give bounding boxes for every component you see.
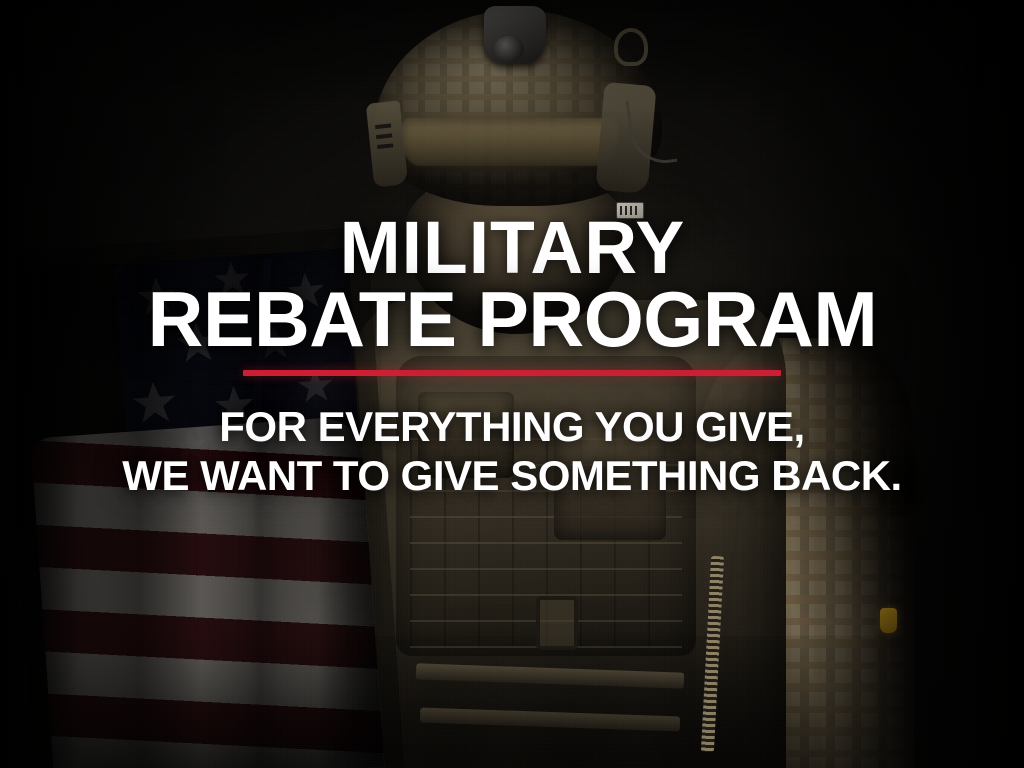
- headline-line-2: REBATE PROGRAM: [147, 283, 877, 356]
- page-subtitle: FOR EVERYTHING YOU GIVE, WE WANT TO GIVE…: [122, 402, 901, 500]
- subtitle-line-1: FOR EVERYTHING YOU GIVE,: [122, 402, 901, 451]
- military-rebate-banner: MILITARY REBATE PROGRAM FOR EVERYTHING Y…: [0, 0, 1024, 768]
- red-divider-rule: [243, 370, 781, 376]
- subtitle-line-2: WE WANT TO GIVE SOMETHING BACK.: [122, 451, 901, 500]
- headline-line-1: MILITARY: [147, 214, 877, 283]
- page-title: MILITARY REBATE PROGRAM: [147, 214, 877, 355]
- text-overlay: MILITARY REBATE PROGRAM FOR EVERYTHING Y…: [0, 0, 1024, 768]
